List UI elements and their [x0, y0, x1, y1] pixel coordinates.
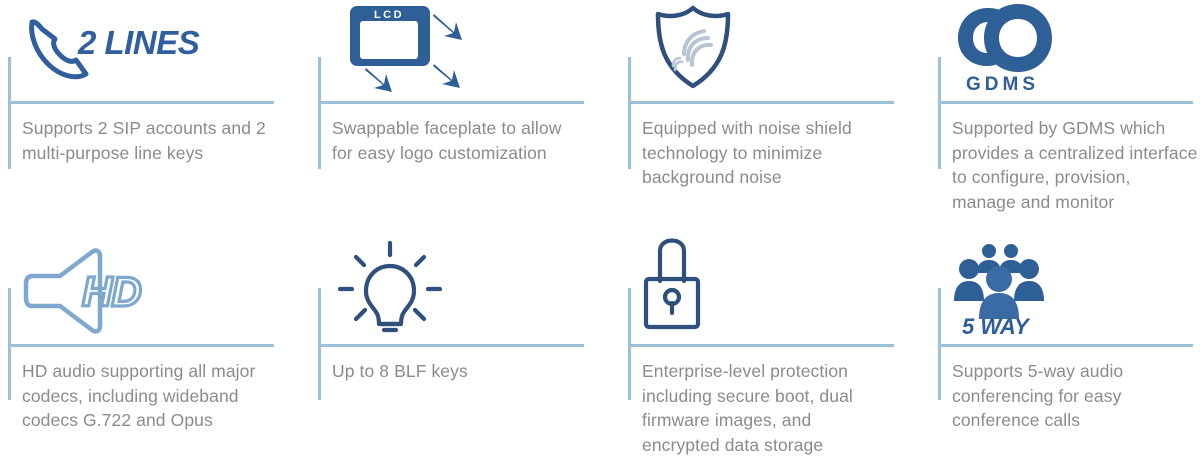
- feature-card-hd-audio: HD HD audio supporting all major codecs,…: [8, 242, 270, 462]
- svg-text:2 LINES: 2 LINES: [77, 24, 200, 61]
- feature-description: Supports 2 SIP accounts and 2 multi-purp…: [22, 116, 272, 165]
- card-horizontal-rule: [938, 344, 1193, 347]
- feature-card-noise-shield: Equipped with noise shield technology to…: [628, 0, 890, 240]
- feature-description: Up to 8 BLF keys: [332, 359, 582, 384]
- feature-card-two-lines: 2 LINES Supports 2 SIP accounts and 2 mu…: [8, 0, 270, 240]
- feature-card-security: Enterprise-level protection including se…: [628, 242, 890, 462]
- feature-grid: 2 LINES Supports 2 SIP accounts and 2 mu…: [0, 0, 1200, 462]
- hd-audio-speaker-icon: HD: [20, 236, 160, 338]
- card-horizontal-rule: [628, 344, 894, 347]
- card-horizontal-rule: [8, 101, 274, 104]
- card-horizontal-rule: [318, 101, 584, 104]
- svg-text:GDMS: GDMS: [966, 74, 1039, 95]
- phone-handset-2-lines-icon: 2 LINES: [20, 0, 200, 96]
- feature-card-swappable-faceplate: LCD Swappable faceplate to allow for eas…: [318, 0, 580, 240]
- noise-shield-icon: [640, 0, 750, 96]
- card-vertical-rule: [628, 57, 631, 169]
- feature-description: HD audio supporting all major codecs, in…: [22, 359, 272, 433]
- lcd-faceplate-swap-icon: LCD: [330, 0, 470, 96]
- feature-description: Swappable faceplate to allow for easy lo…: [332, 116, 582, 165]
- card-horizontal-rule: [628, 101, 894, 104]
- card-vertical-rule: [8, 57, 11, 169]
- feature-card-blf-keys: Up to 8 BLF keys: [318, 242, 580, 462]
- feature-description: Enterprise-level protection including se…: [642, 359, 892, 457]
- gdms-logo-icon: GDMS: [950, 0, 1070, 96]
- svg-text:5 WAY: 5 WAY: [962, 314, 1031, 339]
- feature-description: Supports 5-way audio conferencing for ea…: [952, 359, 1198, 433]
- card-horizontal-rule: [938, 101, 1193, 104]
- people-group-5-way-icon: 5 WAY: [950, 236, 1070, 338]
- card-horizontal-rule: [318, 344, 584, 347]
- feature-description: Equipped with noise shield technology to…: [642, 116, 892, 190]
- feature-card-gdms: GDMS Supported by GDMS which provides a …: [938, 0, 1200, 240]
- card-vertical-rule: [318, 57, 321, 169]
- feature-description: Supported by GDMS which provides a centr…: [952, 116, 1198, 214]
- padlock-icon: [640, 236, 740, 338]
- svg-text:HD: HD: [82, 268, 141, 315]
- feature-card-five-way-conference: 5 WAY Supports 5-way audio conferencing …: [938, 242, 1200, 462]
- card-vertical-rule: [938, 57, 941, 169]
- card-horizontal-rule: [8, 344, 274, 347]
- lightbulb-icon: [330, 236, 440, 338]
- svg-text:LCD: LCD: [374, 9, 404, 21]
